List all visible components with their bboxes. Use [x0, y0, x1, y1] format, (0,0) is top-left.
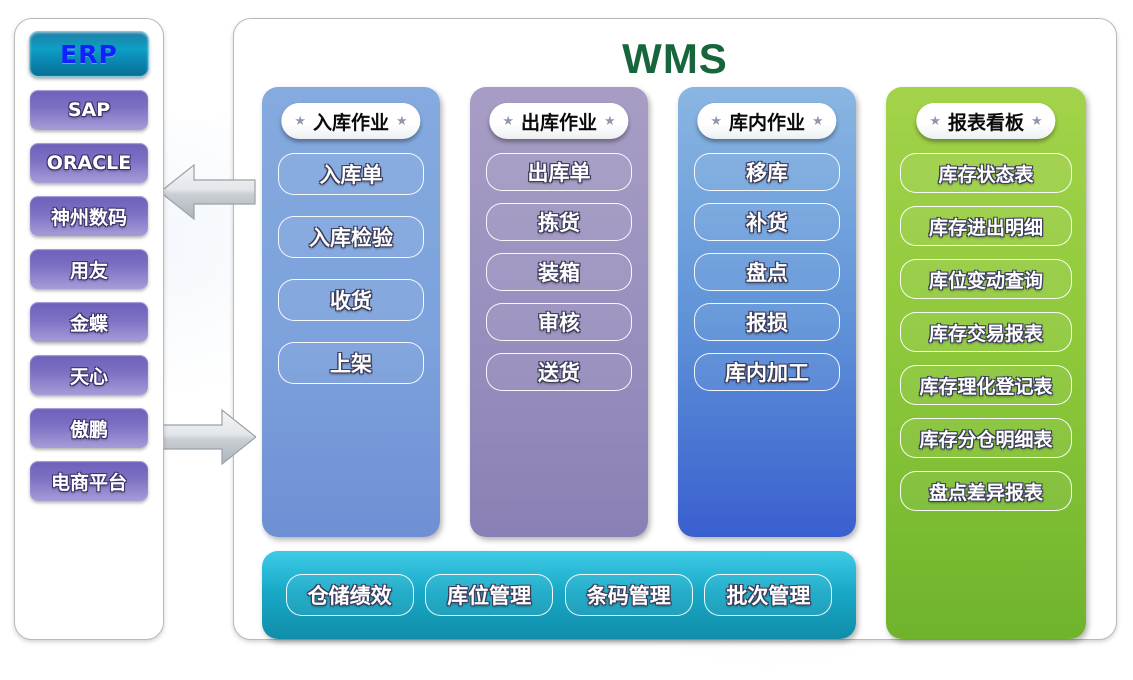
item-review[interactable]: 审核: [486, 303, 632, 341]
item-inventory-physical-register[interactable]: 库存理化登记表: [900, 365, 1072, 405]
column-header-label: 报表看板: [948, 108, 1024, 135]
sidebar-item-aopeng[interactable]: 傲鹏: [30, 408, 148, 448]
sidebar-item-yonyou[interactable]: 用友: [30, 249, 148, 289]
item-location-management[interactable]: 库位管理: [425, 574, 553, 616]
star-icon: ★: [396, 115, 408, 128]
item-delivery[interactable]: 送货: [486, 353, 632, 391]
star-icon: ★: [812, 115, 824, 128]
sidebar-item-ecommerce-platform[interactable]: 电商平台: [30, 461, 148, 501]
sidebar-item-kingdee[interactable]: 金蝶: [30, 302, 148, 342]
item-inventory-by-warehouse-detail[interactable]: 库存分仓明细表: [900, 418, 1072, 458]
column-header-label: 库内作业: [729, 108, 805, 135]
item-in-warehouse-processing[interactable]: 库内加工: [694, 353, 840, 391]
column-report-dashboard: ★ 报表看板 ★ 库存状态表 库存进出明细 库位变动查询 库存交易报表 库存理化…: [886, 87, 1086, 639]
star-icon: ★: [1031, 115, 1043, 128]
item-transfer[interactable]: 移库: [694, 153, 840, 191]
column-internal-operations: ★ 库内作业 ★ 移库 补货 盘点 报损 库内加工: [678, 87, 856, 537]
column-items-outbound: 出库单 拣货 装箱 审核 送货: [470, 153, 648, 525]
column-header-internal: ★ 库内作业 ★: [697, 103, 836, 139]
page-title: WMS: [234, 35, 1116, 83]
item-inbound-order[interactable]: 入库单: [278, 153, 424, 195]
arrow-left-icon: [160, 163, 256, 221]
item-inventory-status-report[interactable]: 库存状态表: [900, 153, 1072, 193]
item-stocktaking[interactable]: 盘点: [694, 253, 840, 291]
column-header-report: ★ 报表看板 ★: [916, 103, 1055, 139]
item-putaway[interactable]: 上架: [278, 342, 424, 384]
item-goods-receipt[interactable]: 收货: [278, 279, 424, 321]
item-inbound-inspection[interactable]: 入库检验: [278, 216, 424, 258]
column-items-internal: 移库 补货 盘点 报损 库内加工: [678, 153, 856, 525]
item-warehouse-performance[interactable]: 仓储绩效: [286, 574, 414, 616]
arrow-right-icon: [160, 408, 256, 466]
item-outbound-order[interactable]: 出库单: [486, 153, 632, 191]
column-outbound-operations: ★ 出库作业 ★ 出库单 拣货 装箱 审核 送货: [470, 87, 648, 537]
column-inbound-operations: ★ 入库作业 ★ 入库单 入库检验 收货 上架: [262, 87, 440, 537]
item-location-change-query[interactable]: 库位变动查询: [900, 259, 1072, 299]
item-picking[interactable]: 拣货: [486, 203, 632, 241]
item-replenishment[interactable]: 补货: [694, 203, 840, 241]
column-header-label: 入库作业: [313, 108, 389, 135]
column-header-outbound: ★ 出库作业 ★: [489, 103, 628, 139]
column-header-label: 出库作业: [521, 108, 597, 135]
wms-panel: WMS ★ 入库作业 ★ 入库单 入库检验 收货 上架 ★ 出库作业 ★ 出库单…: [233, 18, 1117, 640]
item-packing[interactable]: 装箱: [486, 253, 632, 291]
erp-systems-sidebar: ERP SAP ORACLE 神州数码 用友 金蝶 天心 傲鹏 电商平台: [14, 18, 164, 640]
item-inventory-in-out-detail[interactable]: 库存进出明细: [900, 206, 1072, 246]
item-batch-management[interactable]: 批次管理: [704, 574, 832, 616]
column-items-inbound: 入库单 入库检验 收货 上架: [262, 153, 440, 525]
item-inventory-transaction-report[interactable]: 库存交易报表: [900, 312, 1072, 352]
support-functions-bar: 仓储绩效 库位管理 条码管理 批次管理: [262, 551, 856, 639]
star-icon: ★: [710, 115, 722, 128]
star-icon: ★: [502, 115, 514, 128]
sidebar-item-digital-china[interactable]: 神州数码: [30, 196, 148, 236]
item-damage-report[interactable]: 报损: [694, 303, 840, 341]
column-items-report: 库存状态表 库存进出明细 库位变动查询 库存交易报表 库存理化登记表 库存分仓明…: [886, 153, 1086, 627]
sidebar-item-tianxin[interactable]: 天心: [30, 355, 148, 395]
column-header-inbound: ★ 入库作业 ★: [281, 103, 420, 139]
star-icon: ★: [604, 115, 616, 128]
sidebar-header-erp[interactable]: ERP: [29, 31, 149, 77]
item-stocktaking-variance-report[interactable]: 盘点差异报表: [900, 471, 1072, 511]
sidebar-item-sap[interactable]: SAP: [30, 90, 148, 130]
star-icon: ★: [929, 115, 941, 128]
sidebar-item-oracle[interactable]: ORACLE: [30, 143, 148, 183]
star-icon: ★: [294, 115, 306, 128]
item-barcode-management[interactable]: 条码管理: [565, 574, 693, 616]
